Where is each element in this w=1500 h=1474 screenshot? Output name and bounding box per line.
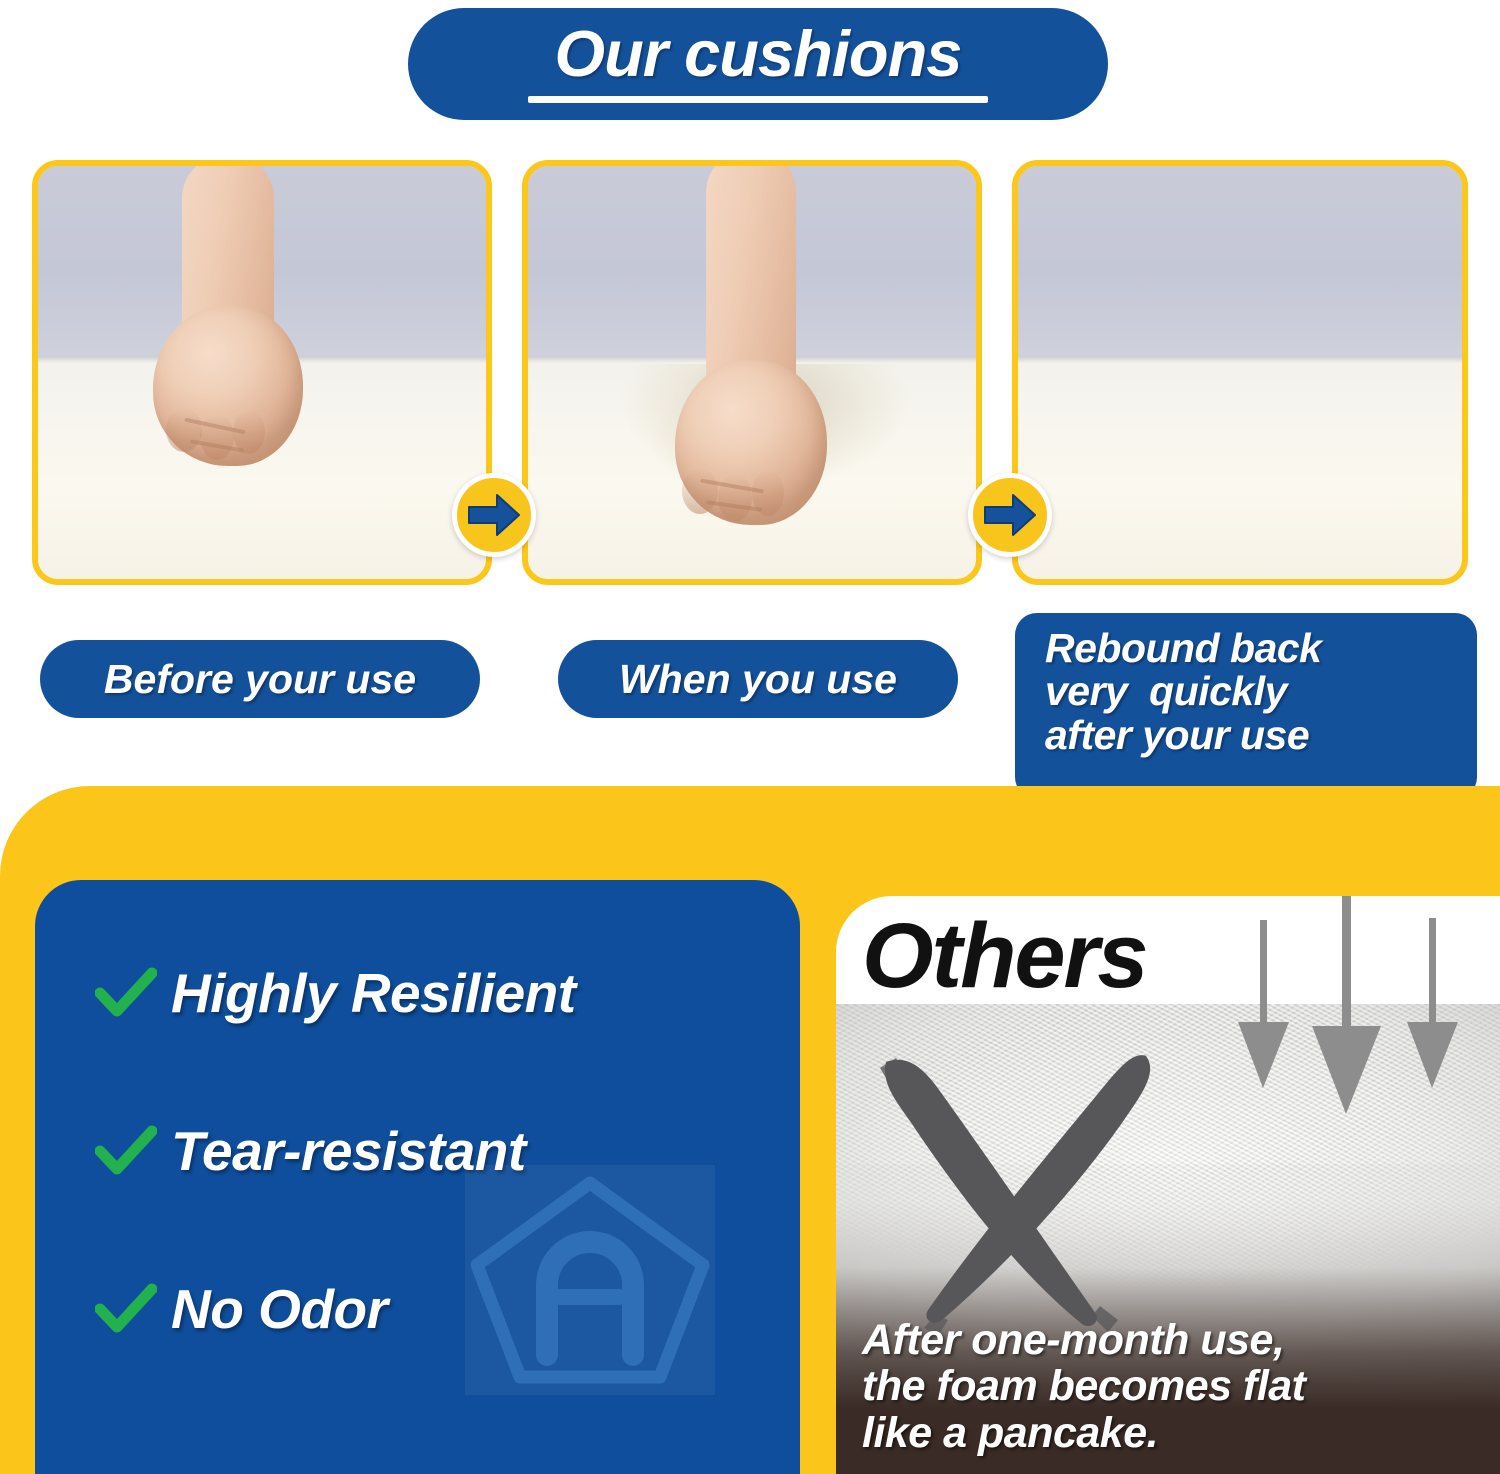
check-icon xyxy=(95,1283,157,1335)
photo-foam-rebounded xyxy=(1018,166,1462,579)
title-underline xyxy=(528,96,988,103)
comparison-step-3-image xyxy=(1012,160,1468,585)
page-title: Our cushions xyxy=(555,21,962,86)
others-caption-line-2: the foam becomes flat xyxy=(862,1363,1306,1409)
feature-item: Highly Resilient xyxy=(95,958,795,1028)
photo-background xyxy=(1018,166,1462,360)
comparison-step-1-caption: Before your use xyxy=(40,640,480,718)
photo-fist-pressing xyxy=(528,166,976,579)
pentagon-a-logo-icon xyxy=(465,1165,715,1395)
comparison-step-2-image xyxy=(522,160,982,585)
arm-illustration xyxy=(656,160,846,550)
feature-label: No Odor xyxy=(171,1277,387,1341)
others-caption-line-1: After one-month use, xyxy=(862,1317,1306,1363)
caption-line-2: very quickly xyxy=(1045,670,1455,713)
comparison-panels xyxy=(0,160,1500,585)
photo-fist-resting xyxy=(38,166,486,579)
arrow-right-icon xyxy=(968,473,1052,557)
foam-surface xyxy=(1018,356,1462,579)
check-icon xyxy=(95,1125,157,1177)
caption-line-1: Rebound back xyxy=(1045,627,1455,670)
brush-x-icon xyxy=(850,1038,1180,1338)
down-arrow-icon xyxy=(1224,896,1474,1142)
comparison-bottom-section: Highly Resilient Tear-resistant No Odor … xyxy=(0,786,1500,1474)
feature-label: Highly Resilient xyxy=(171,961,576,1025)
check-icon xyxy=(95,967,157,1019)
page-title-banner: Our cushions xyxy=(408,8,1108,120)
arm-illustration xyxy=(138,160,318,486)
comparison-step-2-caption: When you use xyxy=(558,640,958,718)
others-caption: After one-month use, the foam becomes fl… xyxy=(862,1317,1306,1456)
comparison-step-1-image xyxy=(32,160,492,585)
others-title: Others xyxy=(862,910,1147,1002)
others-product-panel: Others xyxy=(836,896,1500,1474)
arrow-right-icon xyxy=(452,473,536,557)
others-caption-line-3: like a pancake. xyxy=(862,1410,1306,1456)
caption-line-3: after your use xyxy=(1045,714,1455,757)
comparison-step-3-caption: Rebound back very quickly after your use xyxy=(1015,613,1477,799)
